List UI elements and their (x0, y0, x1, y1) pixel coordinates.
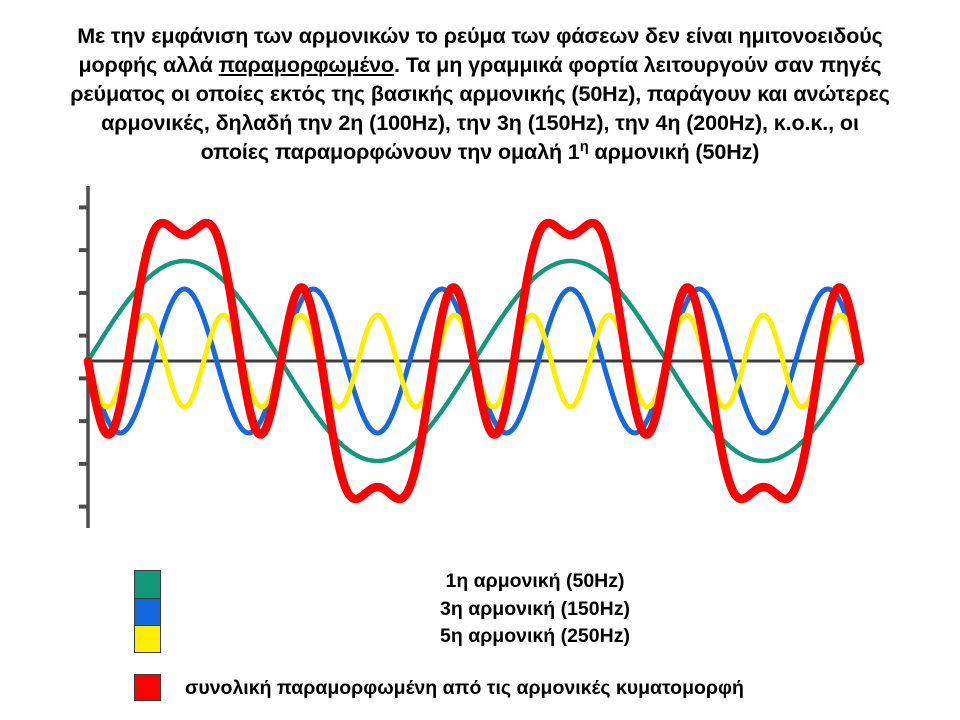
legend-swatch-harmonic-1 (135, 571, 160, 598)
chart-curves (88, 223, 860, 499)
title-line-2-after: . Τα μη γραμμικά φορτία λειτουργούν σαν … (394, 53, 882, 77)
chart-legend: 1η αρμονική (50Hz) 3η αρμονική (150Hz) 5… (0, 560, 960, 720)
legend-total-row: συνολική παραμορφωμένη από τις αρμονικές… (0, 668, 960, 712)
legend-label-harmonic-3: 3η αρμονική (150Hz) (270, 596, 800, 624)
title-line-3: ρεύματος οι οποίες εκτός της βασικής αρμ… (14, 80, 946, 109)
legend-swatch-stack (134, 570, 161, 653)
title-line-2-before: μορφής αλλά (78, 53, 218, 77)
chart-svg (0, 176, 960, 546)
legend-label-harmonic-5: 5η αρμονική (250Hz) (270, 623, 800, 651)
legend-swatch-harmonic-3 (135, 598, 160, 625)
legend-swatch-total (134, 674, 161, 701)
title-line-5-head: οποίες παραμορφώνουν την ομαλή 1 (201, 140, 580, 164)
legend-label-total: συνολική παραμορφωμένη από τις αρμονικές… (185, 676, 744, 700)
title-line-4: αρμονικές, δηλαδή την 2η (100Ηz), την 3η… (14, 109, 946, 138)
legend-label-harmonic-1: 1η αρμονική (50Hz) (270, 568, 800, 596)
legend-swatch-harmonic-5 (135, 625, 160, 652)
legend-label-group: 1η αρμονική (50Hz) 3η αρμονική (150Hz) 5… (270, 568, 800, 651)
title-line-2: μορφής αλλά παραμορφωμένο. Τα μη γραμμικ… (14, 51, 946, 80)
title-line-5-tail: αρμονική (50Ηz) (589, 140, 760, 164)
title-line-1: Με την εμφάνιση των αρμονικών το ρεύμα τ… (14, 22, 946, 51)
title-emphasis-word: παραμορφωμένο (219, 53, 394, 77)
title-block: Με την εμφάνιση των αρμονικών το ρεύμα τ… (0, 22, 960, 167)
title-ordinal-superscript: η (580, 139, 589, 155)
title-line-5: οποίες παραμορφώνουν την ομαλή 1η αρμονι… (14, 138, 946, 167)
harmonics-waveform-chart (0, 176, 960, 546)
